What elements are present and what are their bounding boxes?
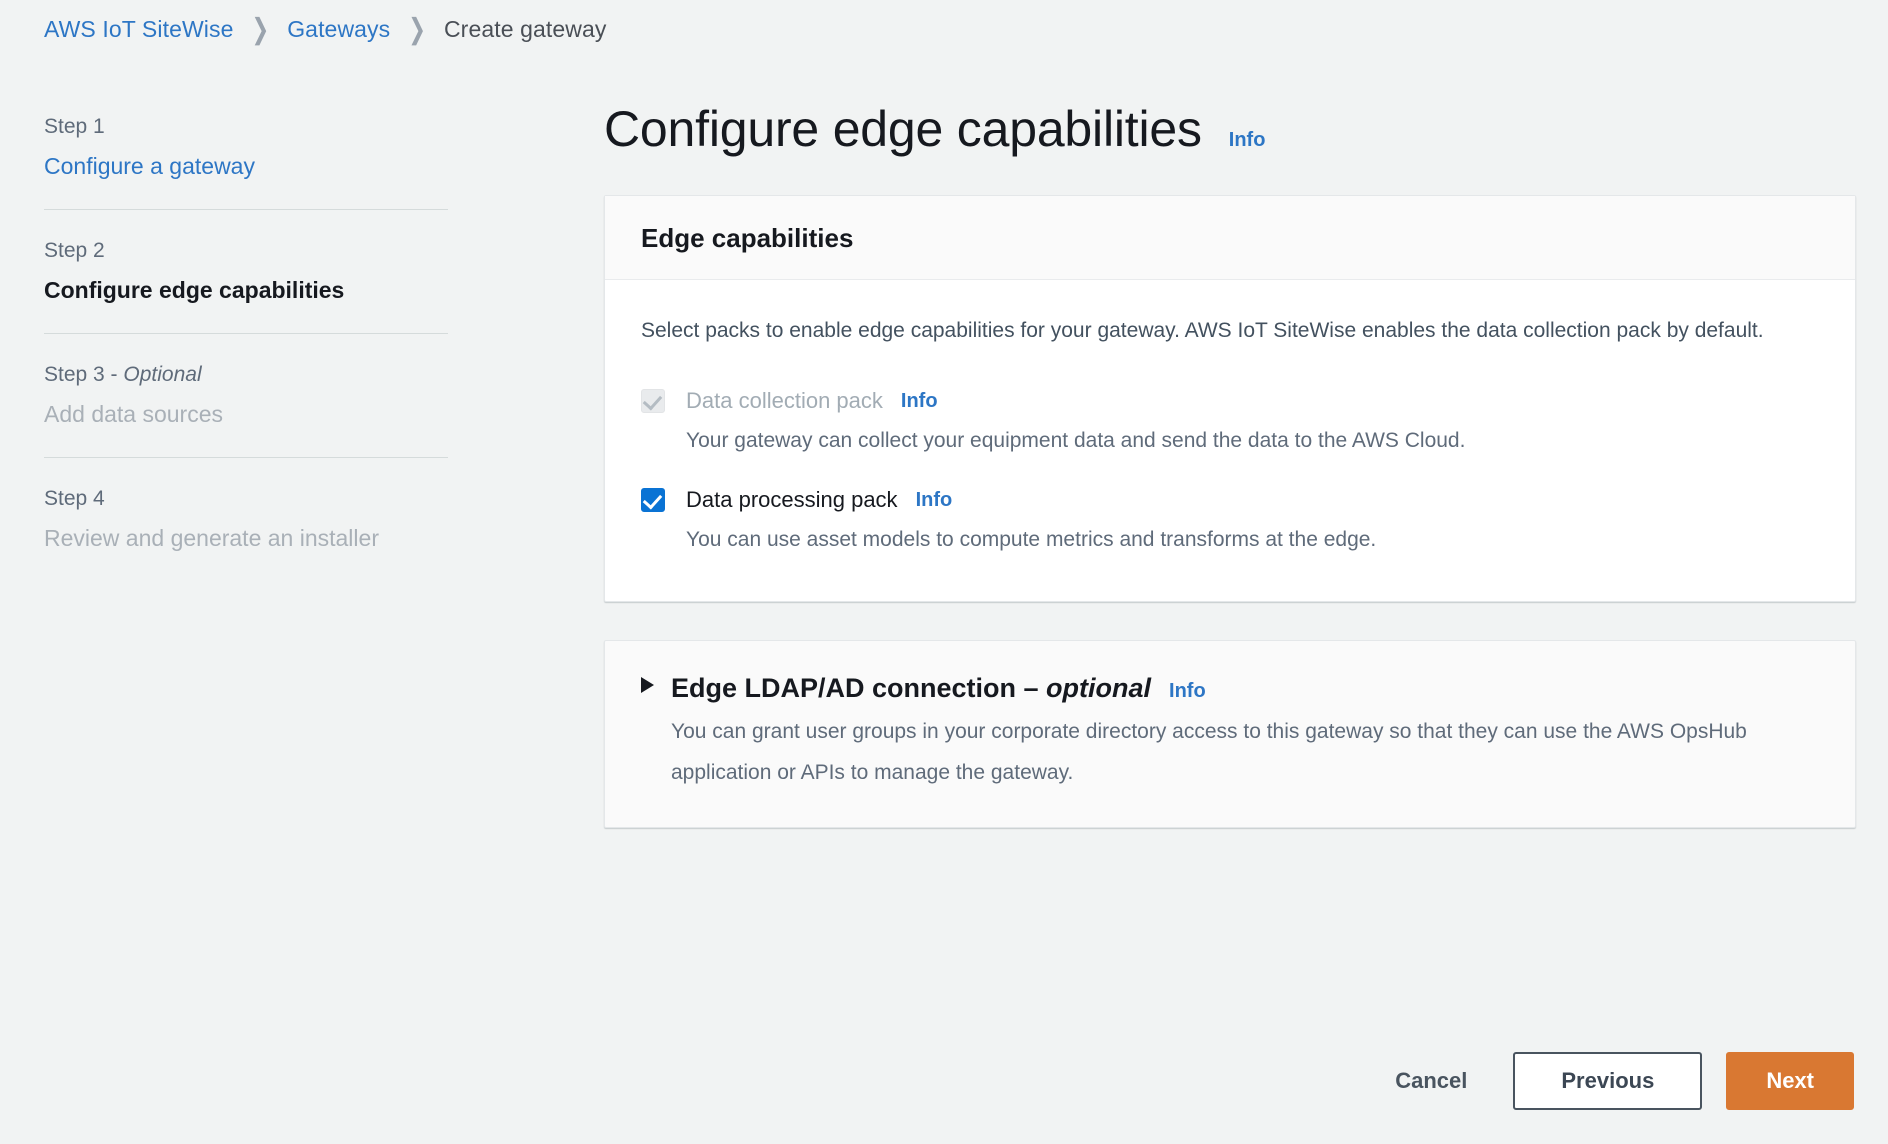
checkbox-description-data-collection-pack: Your gateway can collect your equipment …	[686, 426, 1819, 456]
checkbox-data-collection-pack	[641, 389, 665, 413]
checkbox-row-data-collection-pack: Data collection pack Info Your gateway c…	[641, 387, 1819, 456]
info-link-edge-ldap-ad-connection[interactable]: Info	[1169, 680, 1206, 703]
edge-capabilities-card: Edge capabilities Select packs to enable…	[604, 195, 1856, 602]
previous-button[interactable]: Previous	[1513, 1052, 1702, 1110]
page-header: Configure edge capabilities Info	[604, 100, 1856, 158]
step-3-title[interactable]: Add data sources	[44, 399, 448, 430]
checkbox-line-data-collection-pack[interactable]: Data collection pack Info	[641, 387, 1819, 415]
checkmark-icon	[643, 490, 663, 510]
page-title-info-link[interactable]: Info	[1229, 129, 1266, 152]
edge-ldap-ad-connection-optional-label: optional	[1046, 673, 1151, 703]
step-divider	[44, 333, 448, 334]
wizard-footer-actions: Cancel Previous Next	[1373, 1052, 1854, 1110]
info-link-data-processing-pack[interactable]: Info	[916, 489, 953, 512]
wizard-step-4[interactable]: Step 4 Review and generate an installer	[44, 484, 448, 554]
wizard-step-1[interactable]: Step 1 Configure a gateway	[44, 112, 448, 182]
edge-capabilities-card-header: Edge capabilities	[605, 196, 1855, 280]
wizard-step-2[interactable]: Step 2 Configure edge capabilities	[44, 236, 448, 306]
create-gateway-page: AWS IoT SiteWise ❯ Gateways ❯ Create gat…	[0, 0, 1888, 1144]
step-3-number-text: Step 3 -	[44, 363, 123, 386]
edge-capabilities-description: Select packs to enable edge capabilities…	[641, 312, 1781, 349]
checkbox-label-data-processing-pack[interactable]: Data processing pack	[686, 486, 898, 514]
cancel-button[interactable]: Cancel	[1373, 1056, 1489, 1106]
step-2-title: Configure edge capabilities	[44, 275, 448, 306]
step-4-number: Step 4	[44, 484, 448, 514]
step-2-number: Step 2	[44, 236, 448, 266]
breadcrumb: AWS IoT SiteWise ❯ Gateways ❯ Create gat…	[44, 16, 606, 43]
checkbox-description-data-processing-pack: You can use asset models to compute metr…	[686, 525, 1819, 555]
breadcrumb-item-aws-iot-sitewise[interactable]: AWS IoT SiteWise	[44, 16, 233, 43]
breadcrumb-item-gateways[interactable]: Gateways	[287, 16, 390, 43]
wizard-step-3[interactable]: Step 3 - Optional Add data sources	[44, 360, 448, 430]
edge-capabilities-heading: Edge capabilities	[641, 222, 1819, 254]
main-content: Configure edge capabilities Info Edge ca…	[604, 100, 1856, 828]
checkbox-row-data-processing-pack: Data processing pack Info You can use as…	[641, 486, 1819, 555]
edge-capabilities-card-body: Select packs to enable edge capabilities…	[605, 280, 1855, 601]
edge-ldap-ad-connection-title: Edge LDAP/AD connection – optional	[671, 671, 1151, 705]
chevron-right-icon[interactable]	[641, 677, 654, 693]
step-divider	[44, 457, 448, 458]
wizard-step-navigation: Step 1 Configure a gateway Step 2 Config…	[44, 112, 448, 554]
edge-ldap-ad-connection-description: You can grant user groups in your corpor…	[671, 711, 1801, 793]
step-1-number: Step 1	[44, 112, 448, 142]
checkbox-data-processing-pack[interactable]	[641, 488, 665, 512]
checkmark-icon	[643, 391, 663, 411]
card-spacer	[604, 602, 1856, 640]
checkbox-label-data-collection-pack: Data collection pack	[686, 387, 883, 415]
breadcrumb-separator-icon: ❯	[251, 15, 269, 43]
info-link-data-collection-pack[interactable]: Info	[901, 390, 938, 413]
step-4-title[interactable]: Review and generate an installer	[44, 523, 448, 554]
next-button[interactable]: Next	[1726, 1052, 1854, 1110]
breadcrumb-separator-icon: ❯	[408, 15, 426, 43]
edge-ldap-ad-connection-title-text: Edge LDAP/AD connection –	[671, 673, 1046, 703]
edge-ldap-ad-connection-header[interactable]: Edge LDAP/AD connection – optional Info	[641, 671, 1819, 705]
step-1-title[interactable]: Configure a gateway	[44, 151, 448, 182]
step-3-optional-label: Optional	[123, 363, 201, 386]
breadcrumb-item-create-gateway: Create gateway	[444, 16, 607, 43]
checkbox-line-data-processing-pack[interactable]: Data processing pack Info	[641, 486, 1819, 514]
page-title: Configure edge capabilities	[604, 100, 1202, 158]
step-3-number: Step 3 - Optional	[44, 360, 448, 390]
edge-ldap-ad-connection-card: Edge LDAP/AD connection – optional Info …	[604, 640, 1856, 828]
step-divider	[44, 209, 448, 210]
edge-ldap-ad-connection-body: Edge LDAP/AD connection – optional Info …	[605, 641, 1855, 827]
